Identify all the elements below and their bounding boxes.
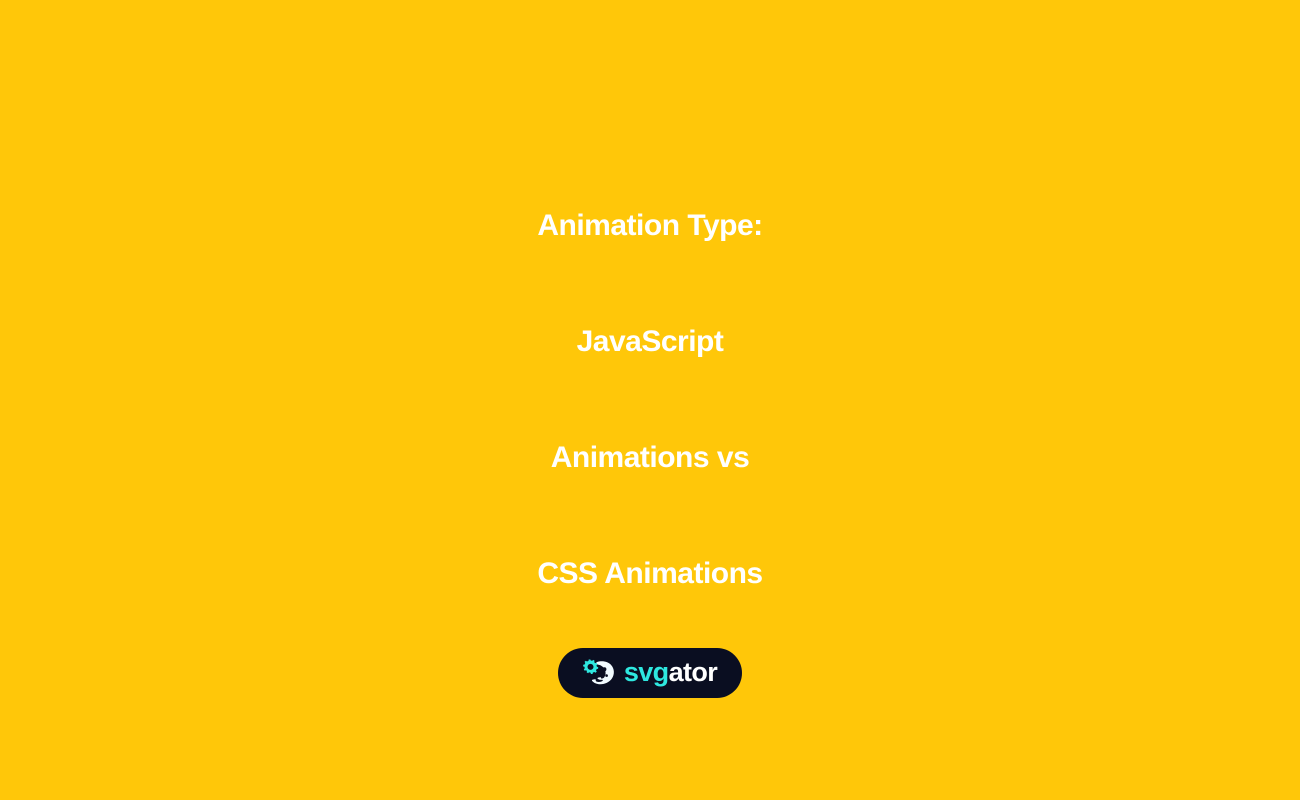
svgator-logo-badge[interactable]: svgator <box>558 648 742 698</box>
page-title: Animation Type: JavaScript Animations vs… <box>0 168 1300 632</box>
wordmark-plain: ator <box>669 657 718 687</box>
svgator-wordmark: svgator <box>624 659 717 686</box>
wordmark-accent: svg <box>624 657 669 687</box>
headline-line-3: Animations vs <box>40 400 1260 516</box>
headline-line-4: CSS Animations <box>40 516 1260 632</box>
poster-canvas: Animation Type: JavaScript Animations vs… <box>0 0 1300 800</box>
svgator-gator-gear-icon <box>583 659 615 688</box>
headline-line-2: JavaScript <box>40 284 1260 400</box>
headline-line-1: Animation Type: <box>40 168 1260 284</box>
